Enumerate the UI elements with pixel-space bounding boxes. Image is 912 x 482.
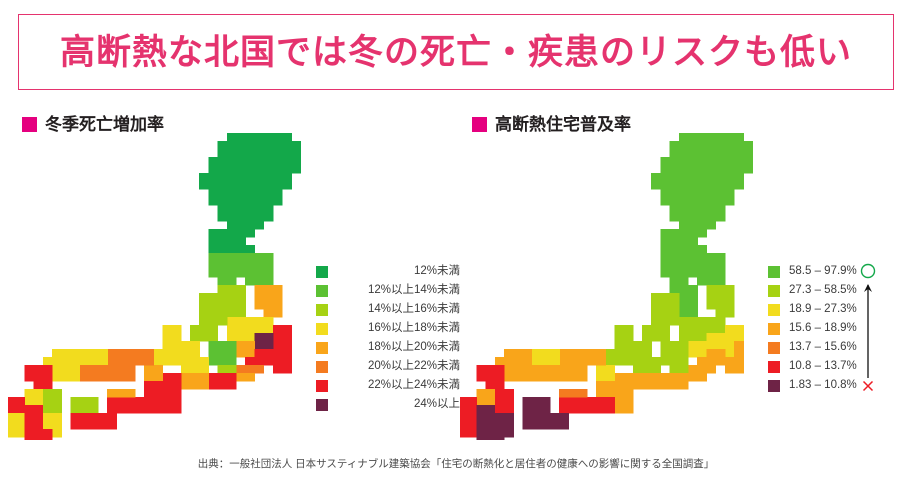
map-region xyxy=(181,341,200,358)
map-region-cell xyxy=(144,381,163,398)
map-region-cell xyxy=(208,341,236,366)
map-region-cell xyxy=(670,245,707,254)
map-region-cell xyxy=(614,397,633,414)
map-region-cell xyxy=(725,357,744,374)
map-region-cell xyxy=(476,365,504,382)
legend-row: 18.9 – 27.3% xyxy=(768,300,912,319)
map-region xyxy=(460,397,477,414)
map-region-cell xyxy=(679,365,689,374)
map-region xyxy=(254,285,282,318)
map-region xyxy=(236,365,264,374)
map-region-cell xyxy=(651,173,744,190)
map-region-cell xyxy=(734,341,744,358)
legend-label: 24%以上 xyxy=(334,399,462,411)
legend-label: 13.7 – 15.6% xyxy=(789,342,857,354)
map-region-cell xyxy=(162,373,181,398)
map-region xyxy=(24,405,43,430)
map-region-cell xyxy=(218,205,274,222)
map-region xyxy=(236,341,255,358)
map-region xyxy=(706,285,734,318)
map-region-cell xyxy=(199,173,292,190)
map-region-cell xyxy=(34,381,53,390)
map-region xyxy=(460,413,477,438)
map-region-cell xyxy=(596,381,615,398)
map-region xyxy=(52,365,80,382)
map-region-cell xyxy=(218,245,255,254)
map-region xyxy=(236,253,273,286)
map-region xyxy=(70,397,98,414)
map-region xyxy=(181,373,209,390)
map-region-cell xyxy=(495,357,505,366)
map-region-cell xyxy=(660,245,670,254)
map-region xyxy=(80,349,108,366)
map-region xyxy=(144,365,163,382)
map-region-cell xyxy=(697,357,725,366)
legend-row: 15.6 – 18.9% xyxy=(768,319,912,338)
map-region-cell xyxy=(181,341,200,358)
map-region xyxy=(633,341,652,358)
legend-label: 15.6 – 18.9% xyxy=(789,323,857,335)
map-region-cell xyxy=(199,293,227,326)
map-region-cell xyxy=(8,397,25,414)
map-region-cell xyxy=(218,277,237,286)
map-region-cell xyxy=(254,349,273,358)
map-region-cell xyxy=(236,365,264,374)
legend-color-swatch xyxy=(316,323,328,335)
map-region xyxy=(559,349,587,382)
legend-label: 20%以上22%未満 xyxy=(334,361,462,373)
map-left-regions xyxy=(8,133,301,440)
map-region xyxy=(660,341,688,366)
map-region-cell xyxy=(264,309,283,318)
map-region xyxy=(476,405,495,430)
map-region xyxy=(688,341,707,358)
map-region-cell xyxy=(614,373,633,398)
map-region xyxy=(153,349,181,366)
map-region-cell xyxy=(633,357,661,374)
legend-row: 13.7 – 15.6% xyxy=(768,338,912,357)
map-region-cell xyxy=(522,397,550,414)
map-region xyxy=(162,373,181,398)
map-region-cell xyxy=(670,205,726,222)
legend-color-swatch xyxy=(316,304,328,316)
map-region-cell xyxy=(476,405,495,430)
map-region-cell xyxy=(24,429,52,440)
legend-color-swatch xyxy=(316,285,328,297)
legend-label: 16%以上18%未満 xyxy=(334,323,462,335)
legend-color-swatch xyxy=(768,266,780,278)
map-region-cell xyxy=(688,253,725,278)
map-region-cell xyxy=(227,309,246,318)
map-region-cell xyxy=(559,397,587,414)
source-caption: 出典：一般社団法人 日本サスティナブル建築協会「住宅の断熱化と居住者の健康への影… xyxy=(0,456,912,471)
map-region xyxy=(208,253,236,286)
map-region-cell xyxy=(208,253,236,278)
legend-color-swatch xyxy=(316,361,328,373)
map-region xyxy=(614,397,633,414)
map-right-regions xyxy=(460,133,753,440)
map-region xyxy=(24,429,52,440)
legend-row: 14%以上16%未満 xyxy=(316,300,462,319)
map-region-cell xyxy=(633,373,661,390)
map-region xyxy=(605,349,633,366)
map-region xyxy=(596,365,615,382)
map-region-cell xyxy=(273,357,292,374)
map-region-cell xyxy=(660,229,697,246)
legend-color-swatch xyxy=(316,399,328,411)
map-region xyxy=(688,253,725,286)
map-region xyxy=(476,365,504,390)
map-region xyxy=(651,133,753,238)
legend-winter-mortality: 12%未満12%以上14%未満14%以上16%未満16%以上18%未満18%以上… xyxy=(316,262,462,414)
map-region-cell xyxy=(236,253,273,278)
map-region xyxy=(8,397,25,414)
map-region xyxy=(199,133,301,238)
map-region-cell xyxy=(107,389,135,398)
map-region xyxy=(190,293,227,342)
map-region-cell xyxy=(596,365,615,382)
legend-color-swatch xyxy=(768,285,780,297)
map-region xyxy=(587,397,615,414)
map-region xyxy=(633,373,661,390)
legend-label: 22%以上24%未満 xyxy=(334,380,462,392)
map-region xyxy=(43,349,80,366)
legend-color-swatch xyxy=(316,342,328,354)
map-region xyxy=(181,357,209,374)
map-svg-left xyxy=(8,130,328,440)
map-region-cell xyxy=(181,357,209,374)
map-region xyxy=(495,349,532,366)
legend-label: 18.9 – 27.3% xyxy=(789,304,857,316)
map-region-cell xyxy=(245,357,273,366)
map-region xyxy=(218,365,237,374)
map-region-cell xyxy=(660,253,688,278)
map-region xyxy=(208,341,236,366)
map-region-cell xyxy=(532,365,560,382)
map-region-cell xyxy=(144,365,163,382)
map-region-cell xyxy=(504,365,532,382)
map-region-cell xyxy=(52,365,80,382)
legend-color-swatch xyxy=(768,380,780,392)
map-region xyxy=(43,389,62,414)
map-region-cell xyxy=(162,325,181,350)
legend-row: 1.83 – 10.8% xyxy=(768,376,912,395)
map-region-cell xyxy=(522,413,569,430)
map-region-cell xyxy=(208,229,245,246)
legend-row: 10.8 – 13.7% xyxy=(768,357,912,376)
map-region xyxy=(24,365,52,390)
map-region xyxy=(559,389,587,398)
map-region xyxy=(559,397,587,414)
map-region-cell xyxy=(245,277,273,286)
map-region-cell xyxy=(208,189,282,206)
map-region xyxy=(522,397,550,414)
legend-label: 18%以上20%未満 xyxy=(334,342,462,354)
map-region-cell xyxy=(587,397,615,414)
map-region-cell xyxy=(227,365,237,374)
map-region-cell xyxy=(688,365,716,374)
map-region-cell xyxy=(495,389,514,414)
map-region xyxy=(80,365,108,382)
map-region xyxy=(107,349,135,382)
map-region-cell xyxy=(43,389,62,414)
map-region-cell xyxy=(43,357,53,366)
map-region-cell xyxy=(559,349,587,382)
map-region-cell xyxy=(486,381,505,390)
map-region-cell xyxy=(218,365,228,374)
map-region-cell xyxy=(706,285,734,310)
map-region-cell xyxy=(208,245,218,254)
map-region-cell xyxy=(80,349,108,366)
japan-map-insulation-rate xyxy=(460,130,780,440)
map-region xyxy=(8,413,25,438)
map-region-cell xyxy=(70,397,98,414)
map-region-cell xyxy=(107,397,135,414)
map-region-cell xyxy=(24,365,52,382)
legend-row: 12%未満 xyxy=(316,262,462,281)
legend-row: 24%以上 xyxy=(316,395,462,414)
map-region-cell xyxy=(670,365,680,374)
map-region-cell xyxy=(679,221,716,230)
map-region-cell xyxy=(181,373,209,390)
map-region-cell xyxy=(153,349,181,366)
legend-row: 58.5 – 97.9% xyxy=(768,262,912,281)
legend-color-swatch xyxy=(768,361,780,373)
map-region xyxy=(476,429,504,440)
map-region xyxy=(532,349,560,366)
map-region xyxy=(670,365,689,374)
map-region xyxy=(135,397,163,414)
legend-label: 12%未満 xyxy=(334,266,462,278)
legend-row: 27.3 – 58.5% xyxy=(768,281,912,300)
map-region-cell xyxy=(660,157,753,174)
map-region-cell xyxy=(208,373,236,390)
infographic-page: 高断熱な北国では冬の死亡・疾患のリスクも低い 冬季死亡増加率 高断熱住宅普及率 … xyxy=(0,0,912,482)
map-region xyxy=(144,381,163,398)
map-region-cell xyxy=(642,325,670,342)
legend-color-swatch xyxy=(316,380,328,392)
map-region xyxy=(688,365,716,374)
map-region-cell xyxy=(460,397,477,414)
legend-label: 1.83 – 10.8% xyxy=(789,380,857,392)
legend-label: 27.3 – 58.5% xyxy=(789,285,857,297)
map-region xyxy=(642,293,679,342)
legend-row: 16%以上18%未満 xyxy=(316,319,462,338)
map-region-cell xyxy=(679,309,698,318)
map-region-cell xyxy=(660,341,688,366)
map-region-cell xyxy=(660,373,688,390)
legend-label: 58.5 – 97.9% xyxy=(789,266,857,278)
map-region xyxy=(614,373,633,398)
map-region xyxy=(504,365,532,382)
map-region-cell xyxy=(706,349,725,358)
legend-color-swatch xyxy=(768,323,780,335)
map-region-cell xyxy=(660,189,734,206)
map-region-cell xyxy=(651,293,679,326)
map-region xyxy=(522,413,569,430)
map-region xyxy=(532,365,560,382)
map-region-cell xyxy=(162,397,181,414)
legend-row: 22%以上24%未満 xyxy=(316,376,462,395)
map-region-cell xyxy=(460,413,477,438)
japan-map-winter-mortality xyxy=(8,130,328,440)
legend-insulation-rate: 58.5 – 97.9%27.3 – 58.5%18.9 – 27.3%15.6… xyxy=(768,262,912,395)
map-region-cell xyxy=(532,349,560,366)
map-region-cell xyxy=(559,389,587,398)
map-region xyxy=(660,253,688,286)
map-region-cell xyxy=(688,341,707,358)
legend-row: 12%以上14%未満 xyxy=(316,281,462,300)
map-region-cell xyxy=(670,277,689,286)
map-region-cell xyxy=(52,349,80,366)
legend-color-swatch xyxy=(316,266,328,278)
map-region-cell xyxy=(614,325,633,350)
map-region xyxy=(107,389,135,398)
map-region-cell xyxy=(24,405,43,430)
map-region-cell xyxy=(633,341,652,358)
map-region-cell xyxy=(476,429,504,440)
map-region-cell xyxy=(70,413,117,430)
map-region-cell xyxy=(208,157,301,174)
map-region-cell xyxy=(504,349,532,366)
map-svg-right xyxy=(460,130,780,440)
map-region xyxy=(633,357,661,374)
map-region xyxy=(596,381,615,398)
map-region-cell xyxy=(282,341,292,358)
map-region-cell xyxy=(716,309,735,318)
map-region-cell xyxy=(190,325,218,342)
map-region-cell xyxy=(107,349,135,382)
legend-color-swatch xyxy=(768,304,780,316)
map-region-cell xyxy=(80,365,108,382)
map-region xyxy=(162,397,181,414)
map-region xyxy=(660,373,688,390)
legend-label: 14%以上16%未満 xyxy=(334,304,462,316)
map-region-cell xyxy=(8,413,25,438)
legend-row: 18%以上20%未満 xyxy=(316,338,462,357)
page-title: 高断熱な北国では冬の死亡・疾患のリスクも低い xyxy=(60,35,852,70)
map-region-cell xyxy=(254,285,282,310)
map-region-cell xyxy=(697,277,725,286)
map-region xyxy=(208,373,236,390)
legend-label: 10.8 – 13.7% xyxy=(789,361,857,373)
map-region-cell xyxy=(605,349,633,366)
title-box: 高断熱な北国では冬の死亡・疾患のリスクも低い xyxy=(18,14,894,90)
legend-color-swatch xyxy=(768,342,780,354)
map-region xyxy=(495,389,514,414)
map-region-cell xyxy=(135,397,163,414)
map-region xyxy=(107,397,135,414)
legend-row: 20%以上22%未満 xyxy=(316,357,462,376)
map-region-cell xyxy=(227,221,264,230)
map-region xyxy=(70,413,117,430)
legend-label: 12%以上14%未満 xyxy=(334,285,462,297)
map-region-cell xyxy=(236,341,255,358)
